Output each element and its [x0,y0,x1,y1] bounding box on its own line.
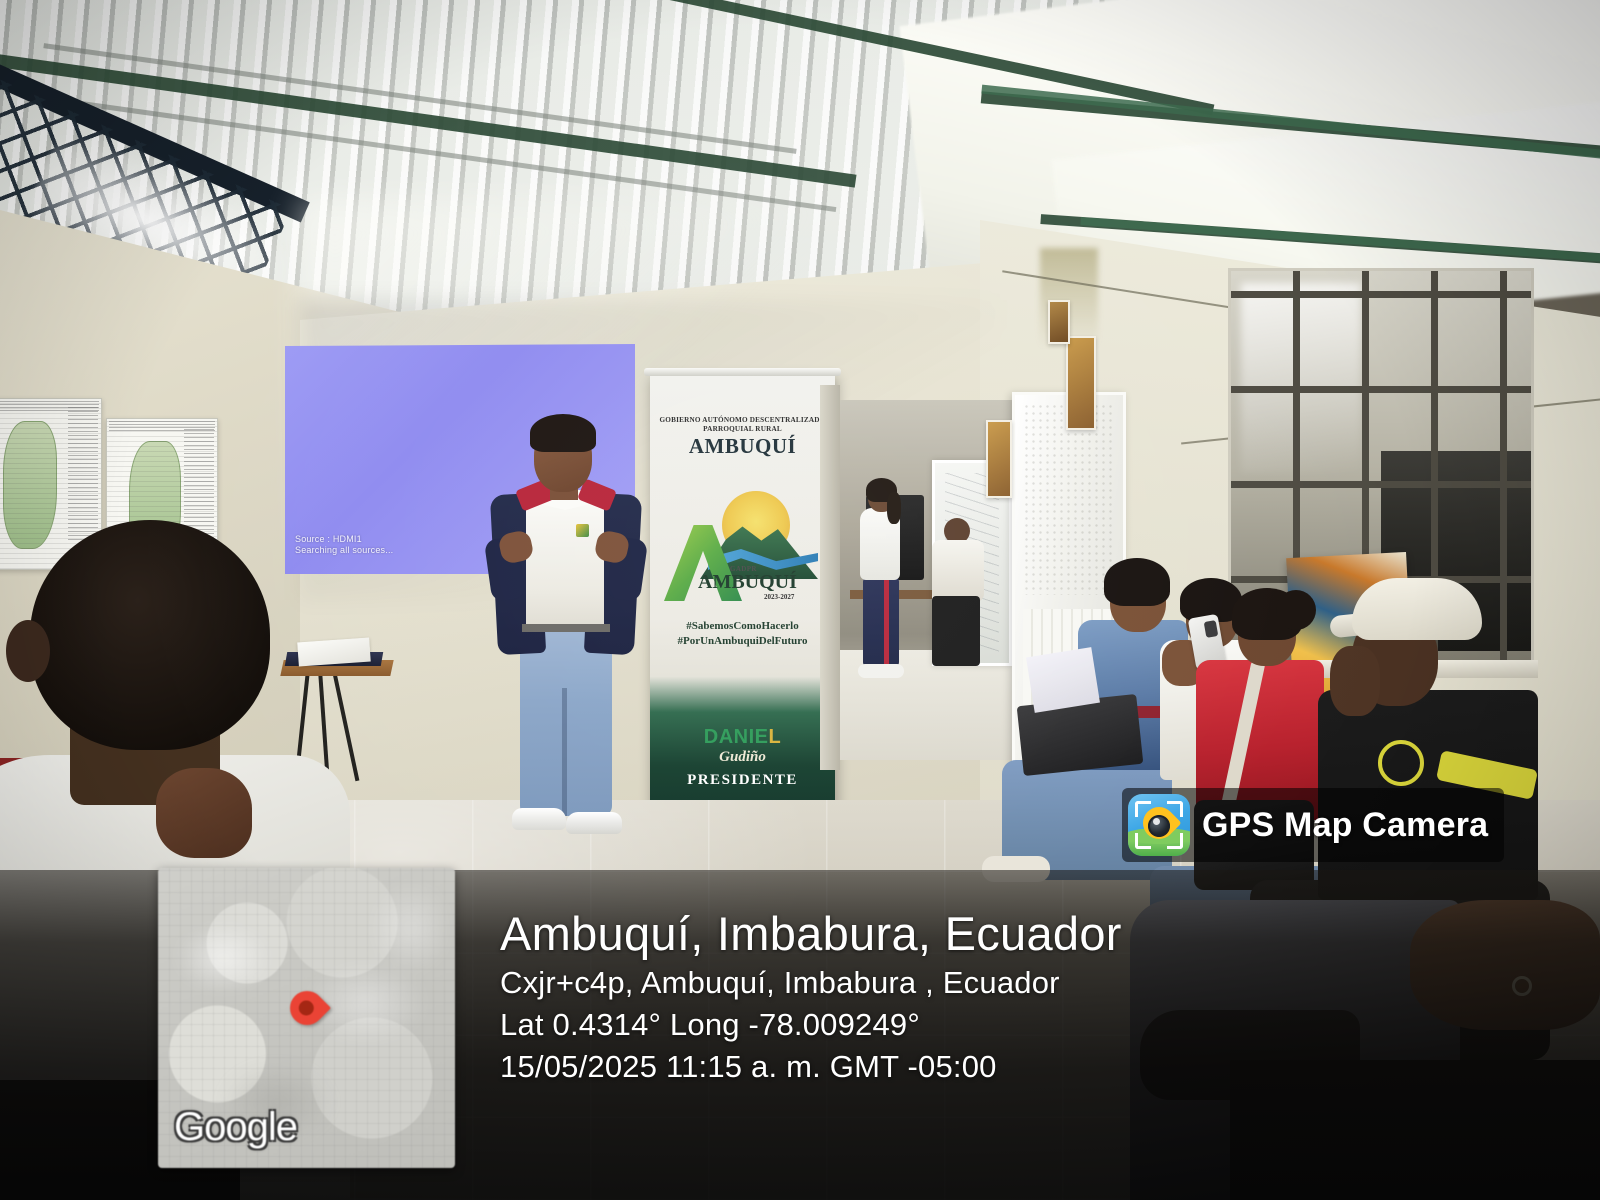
audience-person-4-cap [1352,578,1482,640]
corridor-office-chair [932,596,980,666]
location-title: Ambuquí, Imbabura, Ecuador [500,906,1580,962]
foreground-man-hand [156,768,252,858]
corridor-woman-pants-stripe [884,578,889,664]
audience-person-4-hand [1330,646,1380,716]
speaker-hair [530,414,596,452]
location-timestamp: 15/05/2025 11:15 a. m. GMT -05:00 [500,1046,1580,1088]
corridor-woman-legs [863,576,899,668]
speaker-shoe-left [512,808,566,830]
icon-frame-corner-br [1167,833,1183,849]
icon-lens-highlight [1153,818,1160,825]
google-watermark: Google [174,1105,297,1150]
wall-picture [1048,300,1070,344]
foreground-man-hair [30,520,270,750]
held-paper [1026,647,1100,713]
audience-person-4-jacket-emblem [1378,740,1424,786]
candidate-name-last-letter: L [769,726,782,748]
candidate-name-text: DANIE [704,726,769,748]
banner-hashtag-2: #PorUnAmbuquiDelFuturo [678,635,808,647]
door-frame [820,385,840,770]
corridor-woman-shoes [858,664,904,678]
corridor-seated-man-body [932,540,984,602]
foreground-man-ear [6,620,50,682]
speaker-polo-shirt [526,492,604,632]
banner-header-line1: GOBIERNO AUTÓNOMO DESCENTRALIZADO PARROQ… [658,416,827,434]
logo-name-text: AMBUQUÍ [698,571,797,594]
location-address: Cxjr+c4p, Ambuquí, Imbabura , Ecuador [500,962,1580,1004]
rollup-banner: GOBIERNO AUTÓNOMO DESCENTRALIZADO PARROQ… [650,374,835,819]
logo-years-text: 2023-2027 [764,593,794,601]
wall-picture [986,420,1012,498]
icon-frame-corner-tl [1135,801,1151,817]
speaker-person [478,408,663,856]
speaker-jeans-seam [562,688,567,816]
speaker-shoe-right [566,812,622,834]
gps-app-name: GPS Map Camera [1202,806,1488,845]
banner-candidate-role: PRESIDENTE [650,772,835,789]
banner-header-text-1: GOBIERNO AUTÓNOMO DESCENTRALIZADO [660,416,826,424]
location-info-block: Ambuquí, Imbabura, Ecuador Cxjr+c4p, Amb… [500,906,1580,1088]
banner-hashtags: #SabemosComoHacerlo #PorUnAmbuquiDelFutu… [654,619,831,649]
corridor-woman-ponytail [887,492,901,524]
audience-person-3-hair-bun [1276,590,1316,630]
icon-frame-corner-bl [1135,833,1151,849]
speaker-belt [522,624,610,632]
gps-camera-pin-icon [1128,794,1190,856]
banner-candidate-name: DANIEL [650,726,835,749]
gps-map-camera-watermark[interactable]: GPS Map Camera [1122,788,1504,862]
banner-candidate-signature: Gudiño [650,749,835,766]
speaker-shirt-emblem [576,524,589,537]
location-coordinates: Lat 0.4314° Long -78.009249° [500,1004,1580,1046]
door-frosted-glass [1023,403,1115,595]
banner-title: AMBUQUÍ [658,434,827,459]
icon-frame-corner-tr [1167,801,1183,817]
banner-top-bar [644,368,841,376]
screenshot-root: Source : HDMI1 Searching all sources... … [0,0,1600,1200]
ambuqui-logo: GADPR AMBUQUÍ 2023-2027 [660,489,825,609]
map-thumbnail[interactable]: Google [158,868,455,1168]
wall-picture [1066,336,1096,430]
banner-hashtag-1: #SabemosComoHacerlo [686,620,798,632]
banner-header-text-2: PARROQUIAL RURAL [703,425,782,433]
phone-camera-module [1204,620,1219,638]
audience-person-1-hair [1104,558,1170,606]
